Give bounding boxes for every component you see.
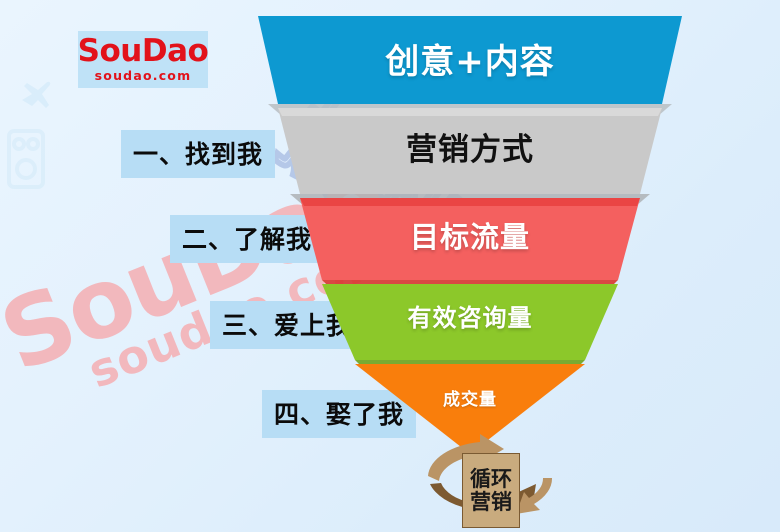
funnel-level-2 <box>278 108 662 194</box>
device-icon <box>6 128 46 194</box>
funnel-level-1 <box>258 16 682 104</box>
marketing-funnel: 创意+内容 营销方式 目标流量 有效咨询量 成交量 <box>250 8 690 458</box>
cycle-label-box: 循环 营销 <box>462 453 520 528</box>
logo-domain: soudao.com <box>95 68 192 83</box>
funnel-shapes <box>250 8 690 458</box>
infographic-canvas: 搜到 SouDao soudao.com SouDao soudao.com 一… <box>0 0 780 532</box>
funnel-level-4 <box>322 284 618 360</box>
cycle-label-line2: 营销 <box>470 491 512 513</box>
airplane-icon <box>18 78 54 114</box>
cycle-label-line1: 循环 <box>470 468 512 490</box>
cycle-marketing-badge: 循环 营销 <box>414 432 566 532</box>
funnel-level-3 <box>300 198 640 280</box>
soudao-logo: SouDao soudao.com <box>78 31 208 88</box>
logo-wordmark: SouDao <box>78 36 209 67</box>
